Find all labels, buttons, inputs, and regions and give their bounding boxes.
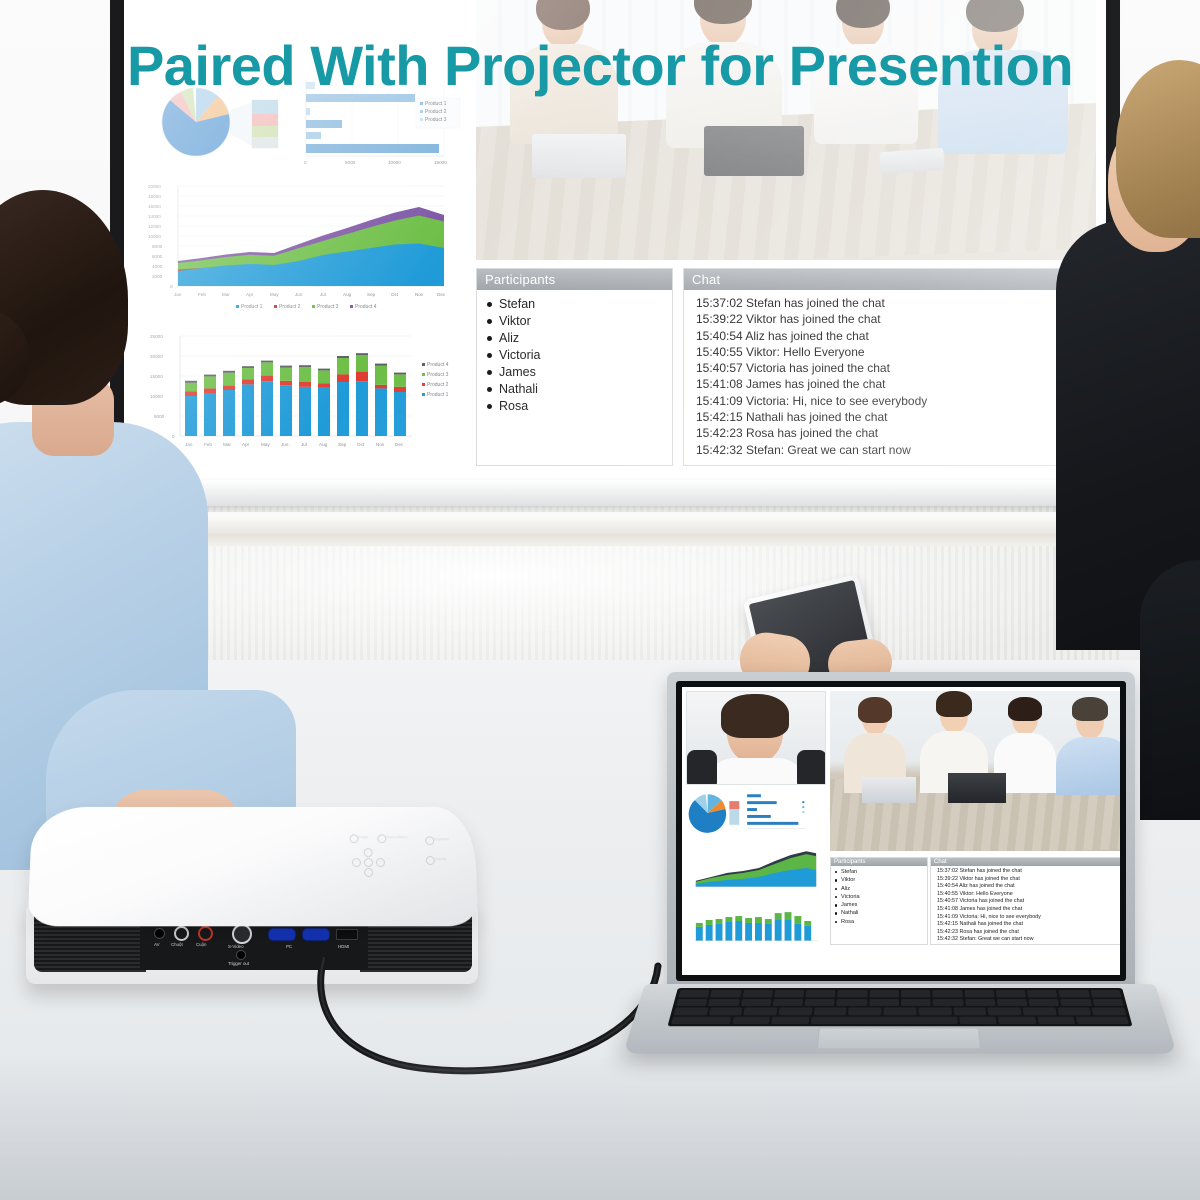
port-rca-red[interactable]	[198, 926, 213, 941]
keyboard-row	[678, 990, 1121, 997]
key	[771, 1016, 809, 1024]
chat-message: 15:42:32 Stefan: Great we can start now	[937, 936, 1120, 944]
key	[676, 999, 708, 1006]
chat-message: 15:39:22 Viktor has joined the chat	[937, 876, 1120, 884]
chat-message: 15:42:32 Stefan: Great we can start now	[696, 442, 1095, 458]
key	[806, 990, 836, 997]
chat-message: 15:42:23 Rosa has joined the chat	[937, 929, 1120, 937]
key	[805, 999, 836, 1006]
laptop-screen-content: Participants StefanViktorAlizVictoriaJam…	[682, 687, 1120, 975]
svg-text:Product 4: Product 4	[427, 362, 449, 368]
key	[884, 1007, 917, 1015]
key	[996, 990, 1027, 997]
participant-item: Rosa	[499, 398, 672, 415]
participant-item: James	[841, 901, 927, 909]
svg-text:Mar: Mar	[222, 292, 230, 297]
source-label: Source/Menu	[386, 835, 407, 839]
keyboard-row	[676, 999, 1124, 1006]
laptop-device[interactable]: Participants StefanViktorAlizVictoriaJam…	[645, 672, 1155, 1102]
bullet-icon	[835, 912, 837, 914]
chat-message: 15:39:22 Viktor has joined the chat	[696, 311, 1095, 327]
port-vga-1[interactable]	[268, 928, 296, 941]
laptop-chat-title: Chat	[931, 858, 1120, 866]
port-trigger-out-label: Trigger out	[228, 961, 249, 966]
port-s-video[interactable]	[232, 924, 252, 944]
attendee-left	[0, 190, 210, 870]
key	[1057, 1007, 1091, 1015]
participants-title: Participants	[477, 269, 672, 290]
key	[918, 1007, 951, 1015]
laptop-pie-bar-chart	[686, 787, 824, 839]
key	[1076, 1016, 1129, 1024]
svg-text:Oct: Oct	[357, 442, 365, 447]
ok-button-icon[interactable]	[364, 858, 373, 867]
laptop-chat-list: 15:37:02 Stefan has joined the chat15:39…	[931, 868, 1120, 944]
key	[998, 1016, 1036, 1024]
participant-item: Victoria	[499, 347, 672, 364]
key	[814, 1007, 847, 1015]
chat-message: 15:42:23 Rosa has joined the chat	[696, 425, 1095, 441]
svg-text:Apr: Apr	[242, 442, 250, 447]
laptop-participants-list: StefanViktorAlizVictoriaJamesNathaliRosa	[831, 868, 927, 926]
key	[1060, 999, 1092, 1006]
svg-text:Product 3: Product 3	[427, 372, 449, 378]
svg-text:Jun: Jun	[281, 442, 289, 447]
laptop-video-tile	[830, 691, 1120, 851]
port-hdmi-label: HDMI	[338, 944, 349, 949]
participant-item: Nathali	[499, 381, 672, 398]
keyboard-row	[674, 1007, 1127, 1015]
laptop-screen[interactable]: Participants StefanViktorAlizVictoriaJam…	[676, 681, 1126, 981]
key	[965, 999, 996, 1006]
port-rca-white-label: Chuột	[171, 942, 183, 947]
source-button-icon[interactable]	[377, 834, 386, 843]
keyboard-row	[671, 1016, 1129, 1024]
svg-text:Product 1: Product 1	[241, 304, 263, 310]
laptop-participants-panel: Participants StefanViktorAlizVictoriaJam…	[830, 857, 928, 945]
svg-text:May: May	[270, 292, 279, 297]
key	[988, 1007, 1022, 1015]
chat-message: 15:40:57 Victoria has joined the chat	[937, 898, 1120, 906]
left-button-icon[interactable]	[352, 858, 361, 867]
key	[744, 1007, 778, 1015]
key	[1037, 1016, 1075, 1024]
chat-message: 15:41:09 Victoria: Hi, nice to see every…	[937, 914, 1120, 922]
svg-text:Sep: Sep	[338, 442, 347, 447]
key	[1059, 990, 1090, 997]
bullet-icon	[835, 879, 837, 881]
key	[1090, 990, 1121, 997]
key	[953, 1007, 986, 1015]
key	[1092, 999, 1124, 1006]
svg-text:Jul: Jul	[320, 292, 326, 297]
svg-text:0: 0	[304, 160, 307, 165]
laptop-lid: Participants StefanViktorAlizVictoriaJam…	[667, 672, 1135, 990]
svg-text:Product 1: Product 1	[427, 392, 449, 398]
bullet-icon	[835, 888, 837, 890]
participant-item: James	[499, 364, 672, 381]
volume-label: Volume	[435, 857, 447, 861]
chat-message: 15:37:02 Stefan has joined the chat	[937, 868, 1120, 876]
svg-text:Jun: Jun	[295, 292, 303, 297]
chat-message: 15:41:08 James has joined the chat	[696, 376, 1095, 392]
port-rca-white[interactable]	[174, 926, 189, 941]
chat-message: 15:40:55 Viktor: Hello Everyone	[696, 344, 1095, 360]
svg-text:Sep: Sep	[367, 292, 376, 297]
key	[732, 1016, 770, 1024]
key	[901, 999, 931, 1006]
participant-item: Viktor	[499, 313, 672, 330]
svg-text:Product 4: Product 4	[355, 304, 377, 310]
port-rca-red-label: Cuộn	[196, 942, 207, 947]
chat-message: 15:40:54 Aliz has joined the chat	[696, 328, 1095, 344]
key	[671, 1016, 732, 1024]
chat-message: 15:42:15 Nathali has joined the chat	[696, 409, 1095, 425]
participant-item: Stefan	[841, 868, 927, 876]
keystone-button-icon[interactable]	[425, 836, 434, 845]
bullet-icon	[835, 921, 837, 923]
down-button-icon[interactable]	[364, 868, 373, 877]
port-hdmi[interactable]	[336, 929, 358, 940]
key	[674, 1007, 709, 1015]
participant-item: Aliz	[499, 330, 672, 347]
product-marketing-scene: 0 5000 10000 15000 Product 1 Product 2 P…	[0, 0, 1200, 1200]
key	[932, 990, 962, 997]
key	[837, 990, 867, 997]
key	[960, 1016, 997, 1024]
participant-item: Victoria	[841, 893, 927, 901]
svg-text:Product 2: Product 2	[425, 109, 447, 115]
participant-item: Viktor	[841, 876, 927, 884]
key	[964, 990, 994, 997]
chat-message: 15:41:09 Victoria: Hi, nice to see every…	[696, 393, 1095, 409]
projector-device[interactable]: AV Chuột Cuộn S-Video Trigger out PC HDM…	[18, 806, 488, 1006]
port-vga-label: PC	[286, 944, 292, 949]
keystone-label: Keystone	[434, 837, 449, 841]
key	[810, 1016, 958, 1024]
key	[678, 990, 709, 997]
laptop-base	[623, 984, 1177, 1054]
right-button-icon[interactable]	[376, 858, 385, 867]
svg-text:Apr: Apr	[246, 292, 254, 297]
participant-item: Nathali	[841, 909, 927, 917]
chat-message: 15:37:02 Stefan has joined the chat	[696, 295, 1095, 311]
svg-text:Aug: Aug	[343, 292, 352, 297]
svg-text:Mar: Mar	[223, 442, 231, 447]
svg-text:5000: 5000	[345, 160, 356, 165]
chat-message: 15:42:15 Nathali has joined the chat	[937, 921, 1120, 929]
port-trigger-out[interactable]	[236, 950, 246, 960]
table-foreground-shadow	[0, 1055, 1200, 1200]
key	[710, 990, 741, 997]
laptop-trackpad[interactable]	[817, 1028, 981, 1049]
chat-message: 15:40:54 Aliz has joined the chat	[937, 883, 1120, 891]
svg-text:Dec: Dec	[395, 442, 404, 447]
key	[1027, 990, 1058, 997]
svg-text:Oct: Oct	[391, 292, 399, 297]
svg-text:15000: 15000	[434, 160, 447, 165]
key	[849, 1007, 882, 1015]
svg-text:Product 1: Product 1	[425, 101, 447, 107]
svg-text:Nov: Nov	[376, 442, 385, 447]
page-title: Paired With Projector for Presention	[0, 38, 1200, 94]
key	[901, 990, 931, 997]
svg-text:Product 3: Product 3	[317, 304, 339, 310]
svg-text:Nov: Nov	[415, 292, 424, 297]
laptop-area-chart	[686, 841, 824, 893]
chat-message: 15:40:55 Viktor: Hello Everyone	[937, 891, 1120, 899]
key	[779, 1007, 813, 1015]
participant-item: Rosa	[841, 918, 927, 926]
key	[869, 999, 899, 1006]
svg-text:10000: 10000	[388, 160, 401, 165]
laptop-bar-chart	[686, 895, 824, 947]
chat-message: 15:40:57 Victoria has joined the chat	[696, 360, 1095, 376]
participant-item: Stefan	[499, 296, 672, 313]
participants-panel: Participants StefanViktorAlizVictoriaJam…	[476, 268, 673, 466]
svg-text:Aug: Aug	[319, 442, 328, 447]
bullet-icon	[835, 896, 837, 898]
laptop-chat-panel: Chat 15:37:02 Stefan has joined the chat…	[930, 857, 1120, 945]
svg-text:Product 2: Product 2	[279, 304, 301, 310]
key	[1022, 1007, 1056, 1015]
key	[997, 999, 1028, 1006]
key	[772, 999, 803, 1006]
conference-panels: Participants StefanViktorAlizVictoriaJam…	[476, 268, 1096, 466]
participant-item: Aliz	[841, 885, 927, 893]
key	[1092, 1007, 1127, 1015]
svg-text:Product 3: Product 3	[425, 117, 447, 123]
bullet-icon	[835, 871, 837, 873]
key	[709, 1007, 743, 1015]
key	[1028, 999, 1059, 1006]
svg-text:Product 2: Product 2	[427, 382, 449, 388]
chat-message-list: 15:37:02 Stefan has joined the chat15:39…	[684, 295, 1095, 458]
up-button-icon[interactable]	[364, 848, 373, 857]
key	[869, 990, 899, 997]
chat-title: Chat	[684, 269, 1095, 290]
power-button-icon[interactable]	[349, 834, 358, 843]
port-av-jack[interactable]	[154, 928, 165, 939]
key	[837, 999, 867, 1006]
projector-control-pad[interactable]: Power Source/Menu Keystone Volume	[347, 832, 468, 880]
chat-panel: Chat 15:37:02 Stefan has joined the chat…	[683, 268, 1096, 466]
laptop-keyboard[interactable]	[667, 988, 1132, 1026]
port-vga-2[interactable]	[302, 928, 330, 941]
power-label: Power	[358, 835, 368, 839]
projector-top-shell: Power Source/Menu Keystone Volume	[28, 807, 479, 926]
volume-button-icon[interactable]	[426, 856, 435, 865]
svg-text:Dec: Dec	[437, 292, 446, 297]
participants-list: StefanViktorAlizVictoriaJamesNathaliRosa	[477, 296, 672, 415]
key	[708, 999, 740, 1006]
chat-message: 15:41:08 James has joined the chat	[937, 906, 1120, 914]
screen-roller-bar	[100, 480, 1130, 506]
port-av-label: AV	[154, 942, 160, 947]
key	[933, 999, 963, 1006]
svg-text:May: May	[261, 442, 270, 447]
window-sill-lower	[95, 534, 1115, 546]
laptop-participants-title: Participants	[831, 858, 927, 866]
svg-text:Jul: Jul	[301, 442, 307, 447]
key	[774, 990, 805, 997]
key	[742, 990, 773, 997]
laptop-self-view	[686, 691, 826, 785]
bullet-icon	[835, 904, 837, 906]
svg-text:20000: 20000	[148, 184, 161, 189]
port-s-video-label: S-Video	[228, 944, 244, 949]
key	[740, 999, 771, 1006]
